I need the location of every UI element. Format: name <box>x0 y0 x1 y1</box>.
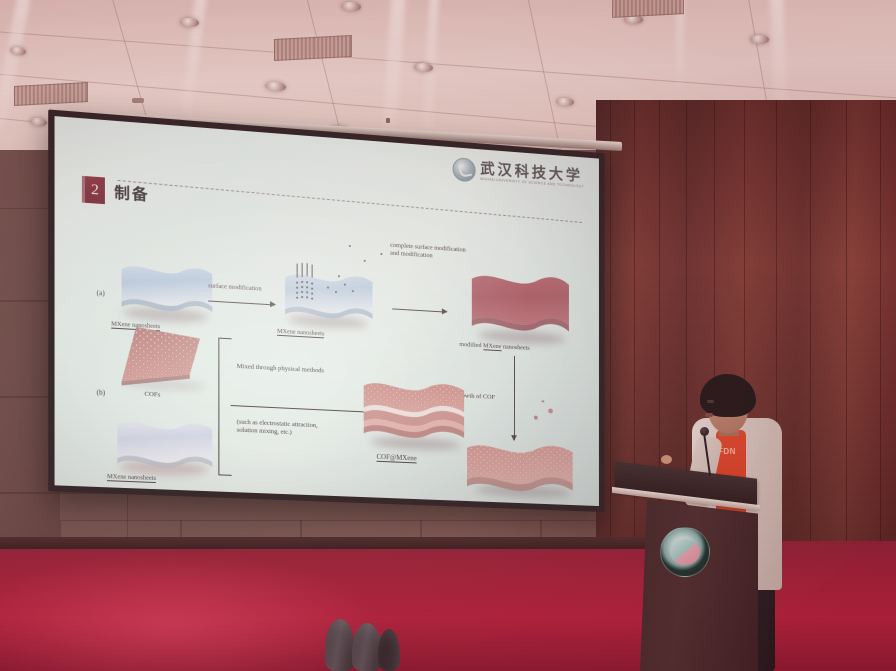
slide-title: 2 制备 <box>82 176 150 207</box>
modified-mxene-nanosheet <box>468 265 573 344</box>
sprinkler-icon <box>386 118 390 123</box>
hvac-vent <box>612 0 684 18</box>
podium-emblem <box>660 527 710 577</box>
projection-screen: 武汉科技大学 WUHAN UNIVERSITY OF SCIENCE AND T… <box>48 109 604 512</box>
merge-bracket <box>218 338 231 476</box>
cof-mxene-layered-middle <box>361 375 468 450</box>
cof-precursor-dot <box>542 400 545 402</box>
photo-scene: 武汉科技大学 WUHAN UNIVERSITY OF SCIENCE AND T… <box>0 0 896 671</box>
panel-a-label: (a) <box>97 289 105 298</box>
title-divider <box>117 180 582 223</box>
label-mixed-physical: Mixed through physical methods <box>237 363 333 376</box>
hvac-vent <box>14 82 88 106</box>
slide-content: 武汉科技大学 WUHAN UNIVERSITY OF SCIENCE AND T… <box>55 116 599 506</box>
panel-b-label: (b) <box>97 388 106 397</box>
section-number-badge: 2 <box>82 176 105 204</box>
cof-precursor-dot <box>548 408 553 413</box>
university-logo: 武汉科技大学 WUHAN UNIVERSITY OF SCIENCE AND T… <box>452 157 584 190</box>
label-complete-surface-modification: complete surface modification and modifi… <box>390 242 466 262</box>
chair-back <box>378 629 400 671</box>
arrow-mixed-physical <box>231 405 377 413</box>
label-cof-mxene-middle: COF@MXene <box>376 453 416 463</box>
label-mixed-note: (such as electrostatic attraction, solut… <box>237 418 329 438</box>
section-title-text: 制备 <box>114 181 149 205</box>
speaker-mouth <box>705 413 713 417</box>
university-seal-icon <box>452 157 475 182</box>
label-cof-mxene-final: COF@MXene <box>482 504 521 506</box>
arrow-growth-of-cof <box>514 356 515 440</box>
podium-body <box>640 500 758 671</box>
speaker-eye <box>707 400 714 403</box>
sprinkler-icon <box>132 98 144 103</box>
functional-group-dot <box>349 245 351 247</box>
cofs-lattice <box>113 324 216 393</box>
downlight-icon <box>265 81 287 92</box>
label-cofs: COFs <box>144 391 160 400</box>
arrow-surface-modification <box>208 301 275 306</box>
downlight-icon <box>556 98 574 107</box>
speaker-hand <box>661 455 672 464</box>
hvac-vent <box>274 35 352 61</box>
label-mxene-bottom: MXene nanosheets <box>107 473 156 483</box>
microphone-head-icon <box>700 427 709 436</box>
downlight-icon <box>341 1 362 11</box>
cof-precursor-dot <box>534 416 538 420</box>
label-mxene-functionalized: MXene nanosheets <box>277 328 324 338</box>
downlight-icon <box>30 117 48 127</box>
mxene-nanosheet-bottom <box>113 412 216 480</box>
mxene-nanosheet-start <box>117 256 216 323</box>
mxene-nanosheet-functionalized <box>281 263 376 331</box>
stage-skirt <box>0 537 700 549</box>
cof-mxene-final <box>464 436 576 505</box>
functional-group-dot <box>380 253 382 255</box>
functional-group-dot <box>364 260 366 262</box>
downlight-icon <box>750 35 769 44</box>
arrow-complete-modification <box>392 308 447 312</box>
